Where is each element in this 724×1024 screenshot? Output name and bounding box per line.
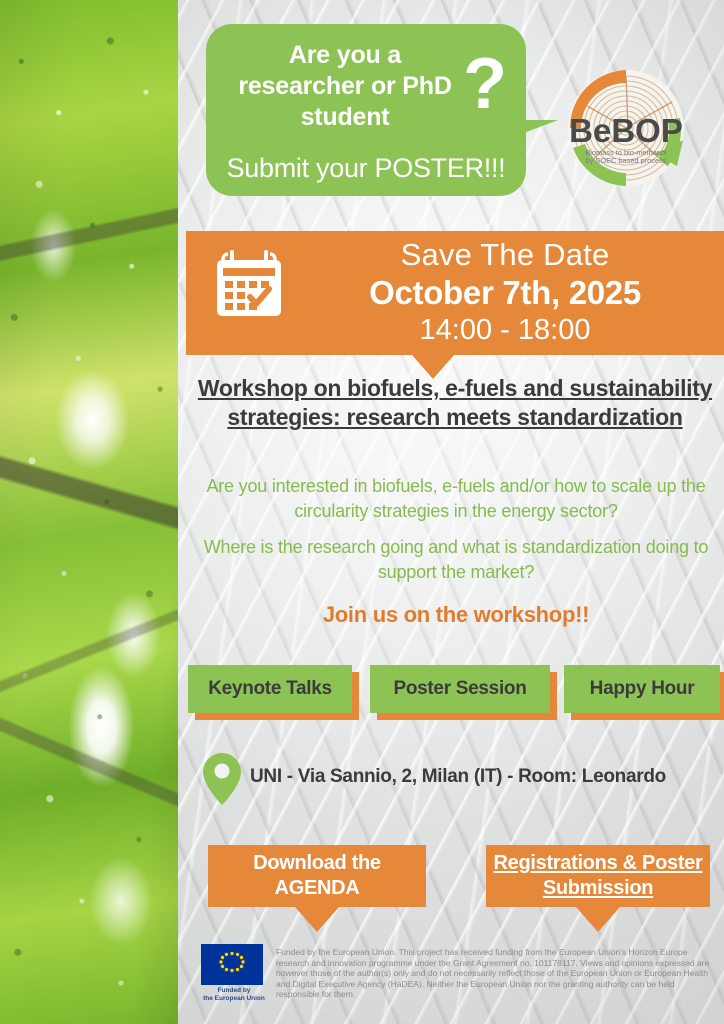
workshop-title: Workshop on biofuels, e-fuels and sustai… [190,374,720,432]
download-agenda-button[interactable]: Download the AGENDA [208,845,426,907]
save-the-date-label: Save The Date [300,236,710,274]
event-poster: Are you a researcher or PhD student ? Su… [0,0,724,1024]
date-text-block: Save The Date October 7th, 2025 14:00 - … [300,236,710,348]
forest-shading-layer [0,0,178,1024]
eu-funding-logo: Funded by the European Union [201,944,267,1006]
calendar-icon [213,250,285,322]
bubble-subline: Submit your POSTER!!! [206,152,526,184]
question-mark-icon: ? [463,48,507,120]
registrations-poster-submission-button[interactable]: Registrations & Poster Submission [486,845,710,907]
event-time: 14:00 - 18:00 [300,312,710,348]
workshop-question-1: Are you interested in biofuels, e-fuels … [190,474,722,524]
join-call-to-action: Join us on the workshop!! [190,601,722,629]
eu-funding-disclaimer: Funded by the European Union. This proje… [276,947,714,1000]
download-agenda-tail-icon [295,907,339,932]
session-chip-happy-hour[interactable]: Happy Hour [564,665,720,713]
bubble-headline: Are you a researcher or PhD student [206,40,484,133]
forest-canopy-photo [0,0,178,1024]
venue-address: UNI - Via Sannio, 2, Milan (IT) - Room: … [250,766,666,788]
logo-tagline-2: by SOEC based process [586,156,667,165]
session-chip-keynote-talks[interactable]: Keynote Talks [188,665,352,713]
bebop-logo: BeBOP Biomass to bio-methanol by SOEC ba… [556,62,704,202]
session-chip-poster-session[interactable]: Poster Session [370,665,550,713]
eu-flag-icon [201,944,263,985]
registrations-label: Registrations & Poster Submission [493,851,702,901]
logo-wordmark: BeBOP [569,112,683,149]
session-chip-group: Keynote Talks Poster Session Happy Hour [186,665,724,727]
location-pin-icon [202,752,242,806]
eu-logo-caption: Funded by the European Union [201,987,267,1003]
registrations-tail-icon [576,907,620,932]
event-date: October 7th, 2025 [300,274,710,312]
workshop-question-2: Where is the research going and what is … [190,535,722,585]
download-agenda-label: Download the AGENDA [253,851,381,901]
